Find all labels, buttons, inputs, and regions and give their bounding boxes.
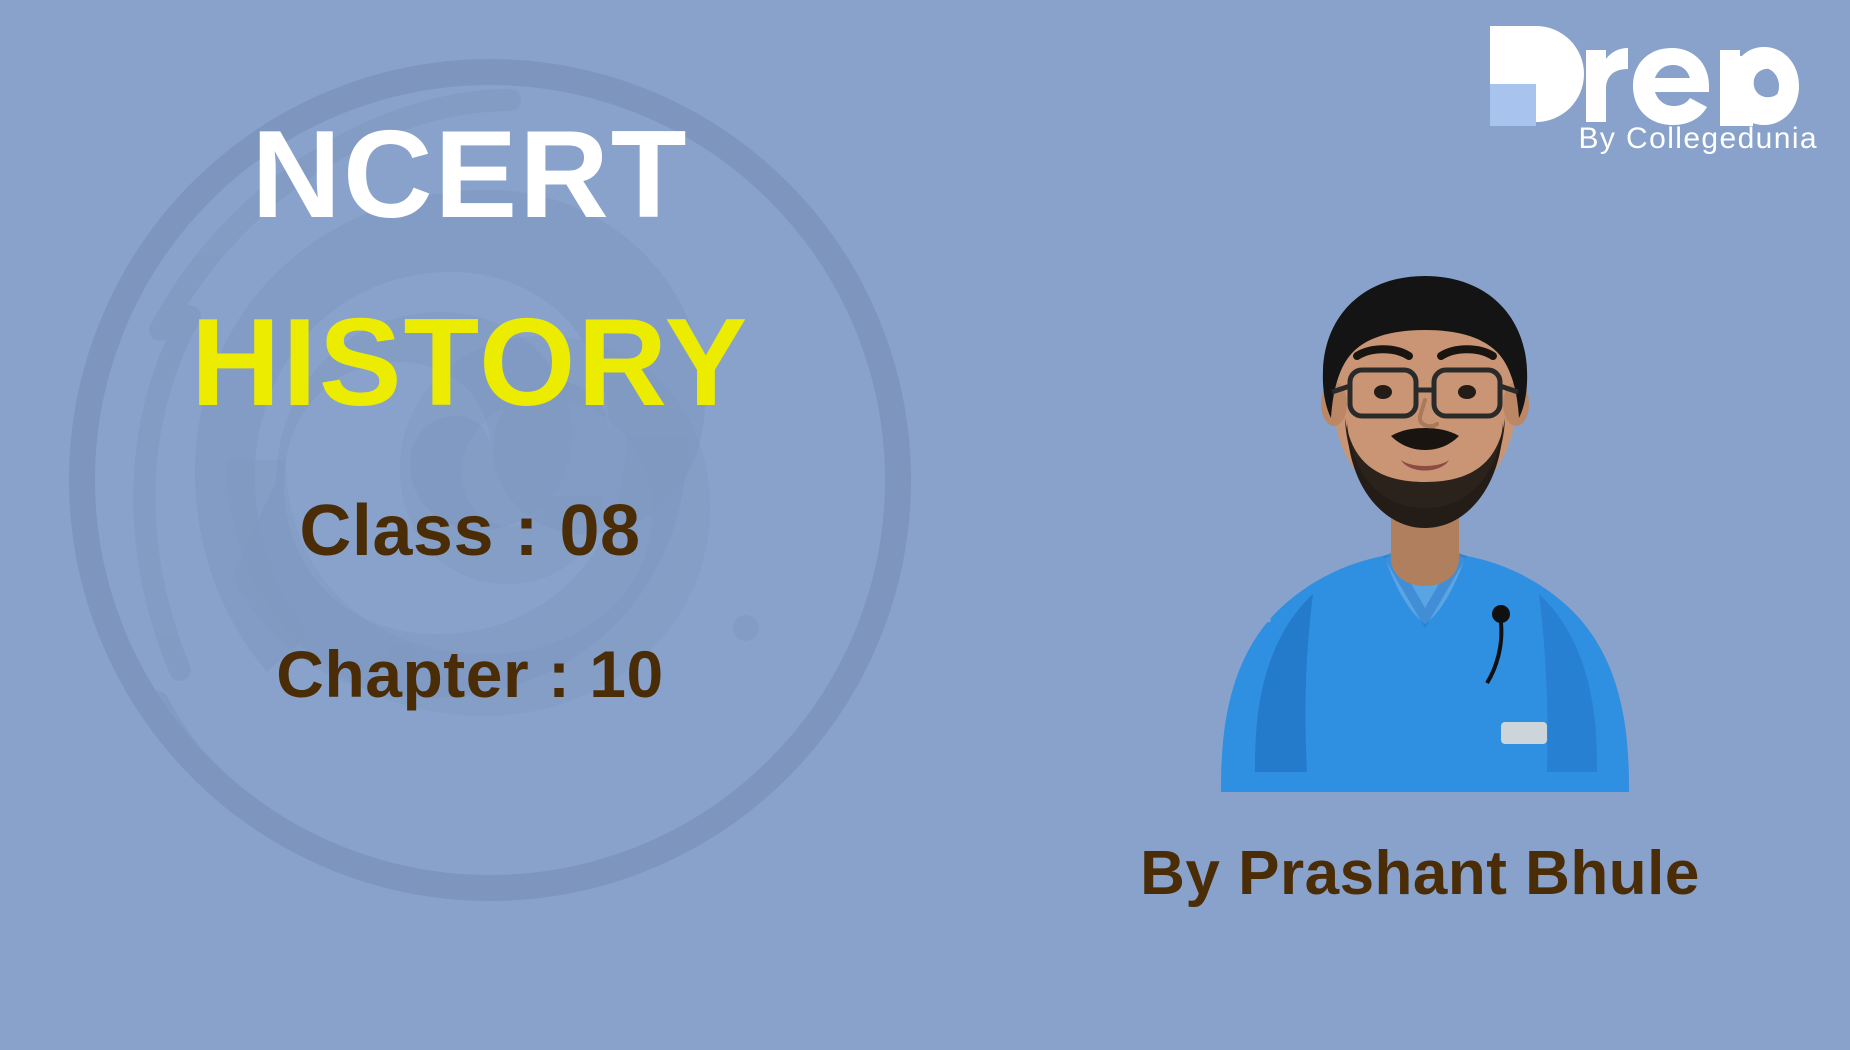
presenter-photo-container [1195,222,1655,812]
class-label: Class : 08 [0,490,940,572]
prepp-logo-byline: By Collegedunia [1478,122,1818,156]
presenter-portrait [1195,222,1655,792]
presenter-name: By Prashant Bhule [1010,838,1830,909]
board-title: NCERT [0,110,940,240]
prepp-logo-wordmark [1482,22,1822,122]
title-block: NCERT HISTORY Class : 08 Chapter : 10 [0,110,940,712]
prepp-logo: By Collegedunia [1482,18,1822,158]
slide-canvas: By Collegedunia NCERT HISTORY Class : 08… [0,0,1850,1050]
chapter-label: Chapter : 10 [0,636,940,712]
prepp-second-p-glyph [1732,22,1822,126]
subject-title: HISTORY [0,298,940,428]
